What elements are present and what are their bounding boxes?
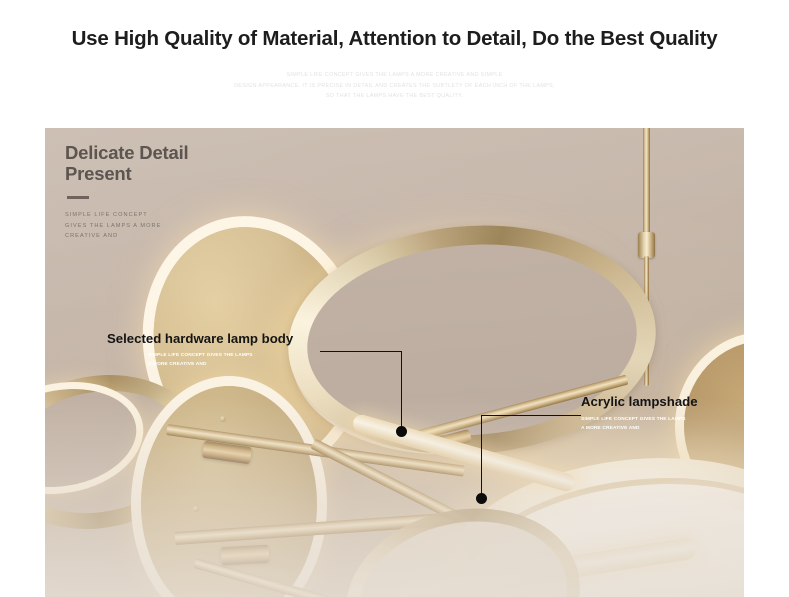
leader-line-acrylic-horizontal [481,415,581,416]
annotation-label-hardware: Selected hardware lamp body [107,331,293,346]
leader-line-acrylic-vertical [481,415,482,495]
subtitle-block: SIMPLE LIFE CONCEPT GIVES THE LAMPS A MO… [0,70,789,102]
page-title: Use High Quality of Material, Attention … [0,27,789,51]
leader-dot-acrylic [476,493,487,504]
subtitle-line-2: DESIGN APPEARANCE. IT IS PRECISE IN DETA… [0,81,789,92]
annotation-label-acrylic: Acrylic lampshade [581,394,698,409]
delicate-detail-block: Delicate Detail Present SIMPLE LIFE CONC… [65,142,188,242]
header-band: Use High Quality of Material, Attention … [0,0,789,128]
heading-divider [67,196,89,199]
rod-collar-icon [638,232,655,258]
leader-line-hardware-horizontal [320,351,402,352]
subtitle-line-3: SO THAT THE LAMPS HAVE THE BEST QUALITY. [0,91,789,102]
annotation-caption-hardware: SIMPLE LIFE CONCEPT GIVES THE LAMPS A MO… [148,352,253,369]
suspension-rod-icon [643,128,650,234]
product-photo: Delicate Detail Present SIMPLE LIFE CONC… [45,128,744,597]
subtitle-line-1: SIMPLE LIFE CONCEPT GIVES THE LAMPS A MO… [0,70,789,81]
delicate-detail-heading: Delicate Detail Present [65,142,188,184]
leader-line-hardware-vertical [401,351,402,432]
annotation-caption-acrylic: SIMPLE LIFE CONCEPT GIVES THE LAMPS A MO… [581,416,686,433]
delicate-detail-caption: SIMPLE LIFE CONCEPT GIVES THE LAMPS A MO… [65,210,188,242]
leader-dot-hardware [396,426,407,437]
